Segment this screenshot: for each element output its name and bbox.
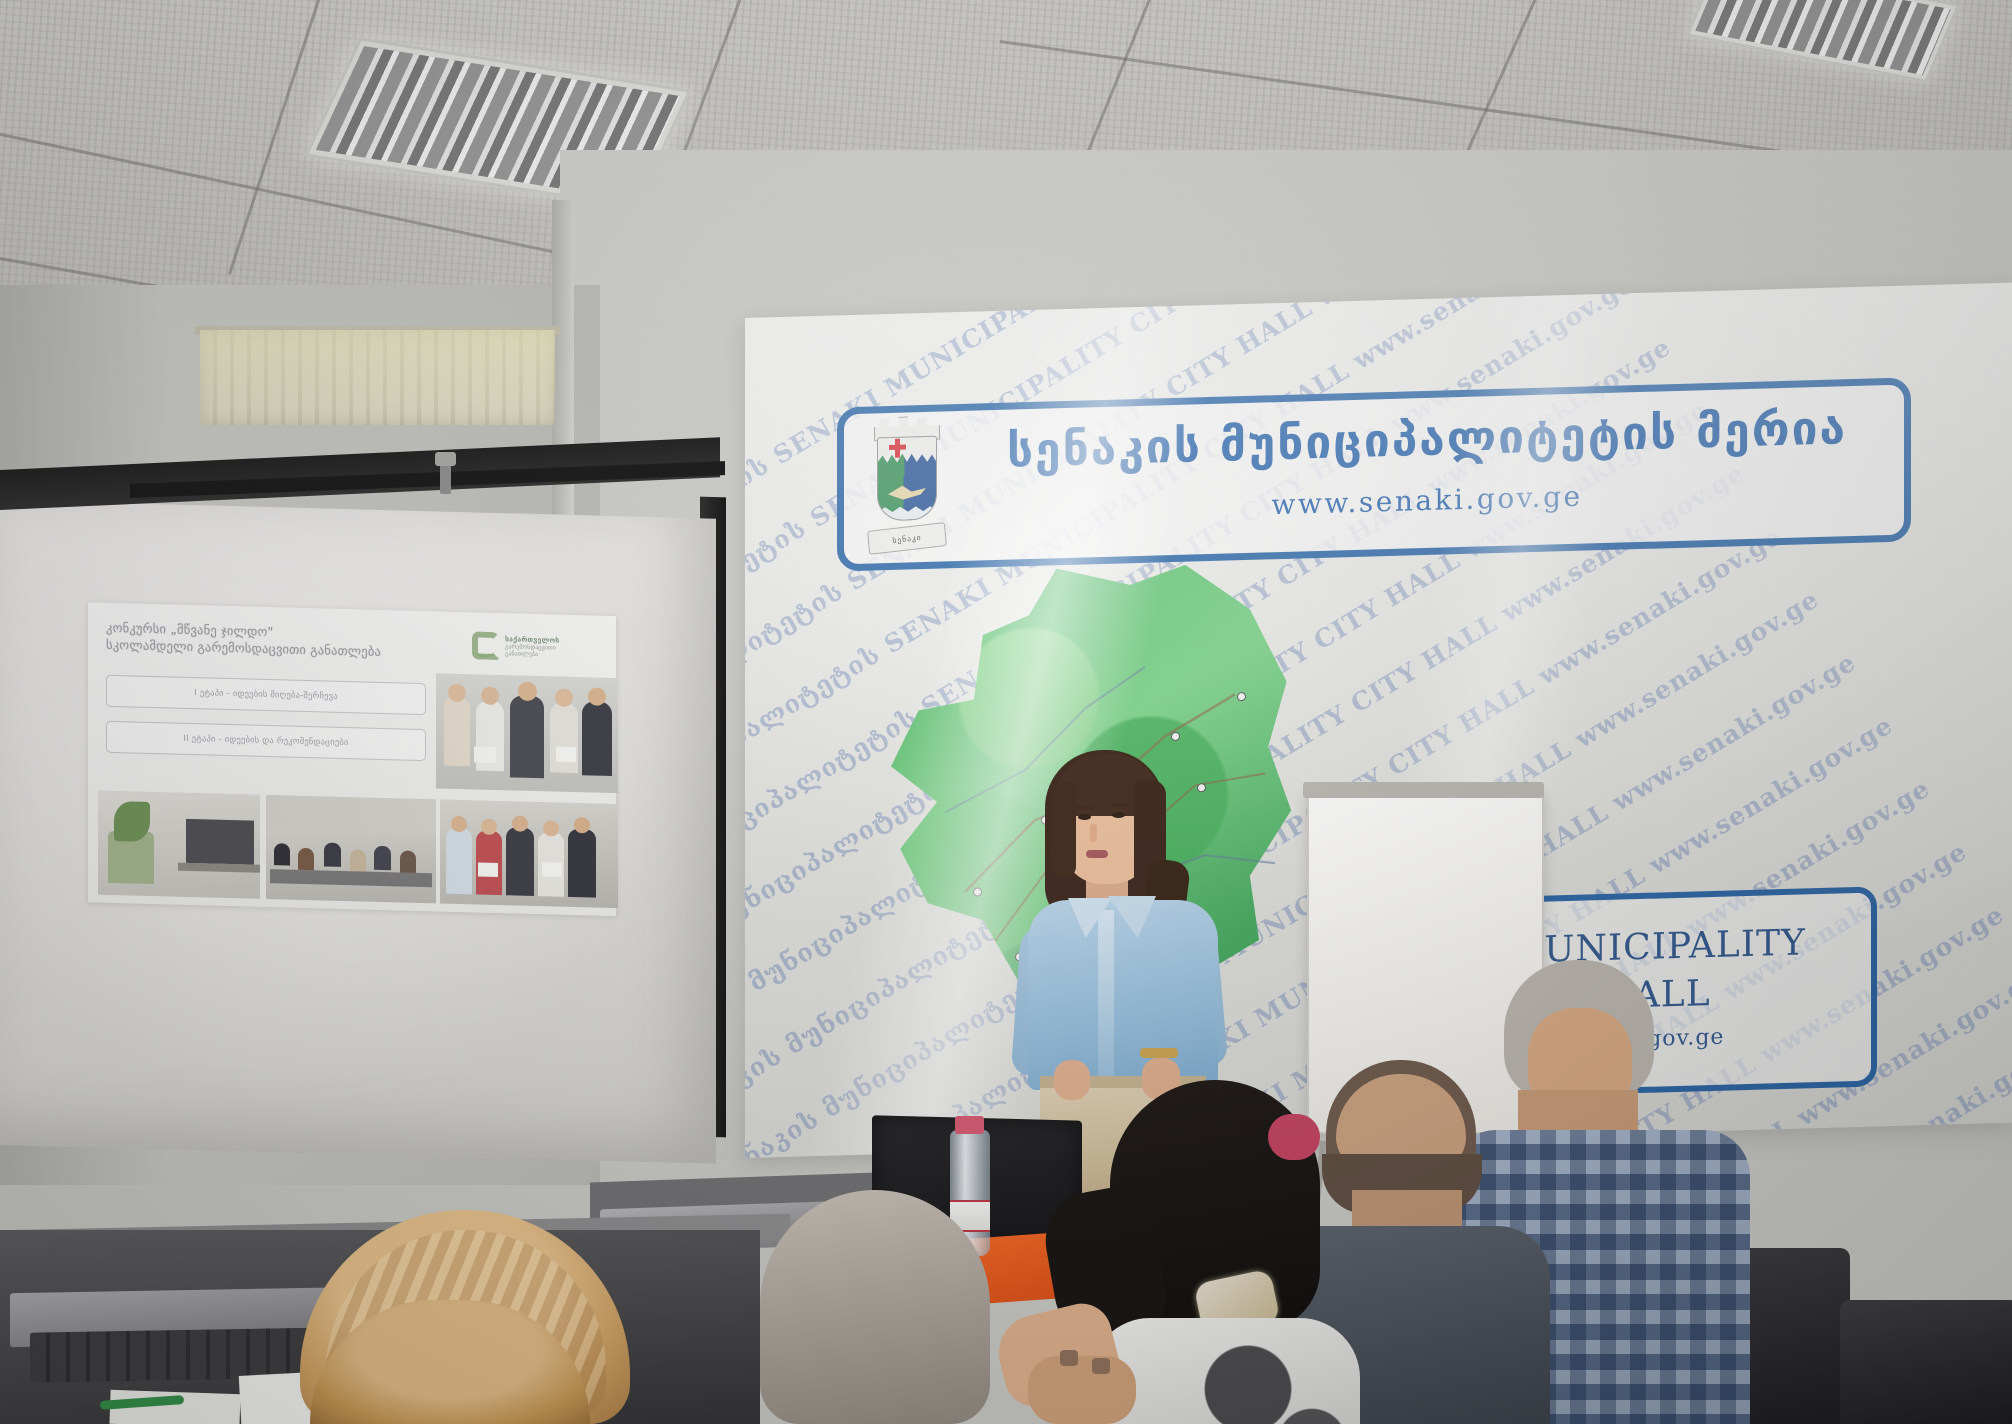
- audience-grey-attendee: [730, 1190, 1030, 1424]
- water-bottle-cap: [955, 1116, 984, 1134]
- slide-photo-group-award: [436, 673, 618, 793]
- slide-title: კონკურსი „მწვანე ჯილდო" სკოლამდელი გარემ…: [106, 619, 516, 664]
- presenter-eye-left: [1078, 814, 1091, 820]
- presenter-blouse-placket: [1098, 910, 1114, 1080]
- slide-logo-line3: განათლება: [505, 650, 538, 658]
- screen-hook-top: [435, 452, 456, 466]
- attendee-hair: [310, 1300, 590, 1424]
- presenter-mouth: [1086, 850, 1108, 858]
- chair-right-2: [1840, 1300, 2012, 1424]
- flipchart-clamp: [1303, 782, 1544, 798]
- projection-screen: კონკურსი „მწვანე ჯილდო" სკოლამდელი გარემ…: [0, 500, 716, 1164]
- audience-left-attendee: [310, 1300, 590, 1424]
- slide-stage-box-2: II ეტაპი - იდეების და რეკომენდაციები: [106, 721, 426, 761]
- photo-scene: სენაკის მუნიციპალიტეტის SENAKI MUNICIPAL…: [0, 0, 2012, 1424]
- attendee-hair-tie: [1268, 1114, 1320, 1160]
- slide-photo-office-plant: [98, 791, 260, 899]
- slide-logo-text: საქართველოს გარემოსდაცვითი განათლება: [505, 636, 559, 658]
- presenter-wristwatch: [1140, 1048, 1178, 1058]
- hand-lower: [1028, 1356, 1136, 1424]
- presenter-hair-left: [1050, 782, 1076, 878]
- presenter-eyebrow-left: [1076, 806, 1093, 809]
- slide-stage-box-1: I ეტაპი - იდეების მიღება-შერჩევა: [106, 675, 426, 715]
- slide-logo: საქართველოს გარემოსდაცვითი განათლება: [472, 628, 602, 665]
- slide-photo-group-certificates: [440, 800, 618, 909]
- green-c-logo-icon: [472, 631, 500, 660]
- presentation-slide: კონკურსი „მწვანე ჯილდო" სკოლამდელი გარემ…: [88, 602, 616, 916]
- fingernail-2: [1092, 1358, 1110, 1374]
- fingernail-1: [1060, 1350, 1078, 1366]
- presenter-eyebrow-right: [1110, 804, 1127, 807]
- presenter-nose: [1090, 824, 1097, 842]
- slide-photo-audience-hall: [266, 795, 436, 903]
- presenter-eye-right: [1112, 812, 1125, 818]
- attendee-hair: [760, 1190, 990, 1424]
- attendee-blouse-pattern: [1200, 1338, 1360, 1424]
- blinds-light-glow: [200, 330, 555, 425]
- presenter-blouse: [1028, 900, 1218, 1090]
